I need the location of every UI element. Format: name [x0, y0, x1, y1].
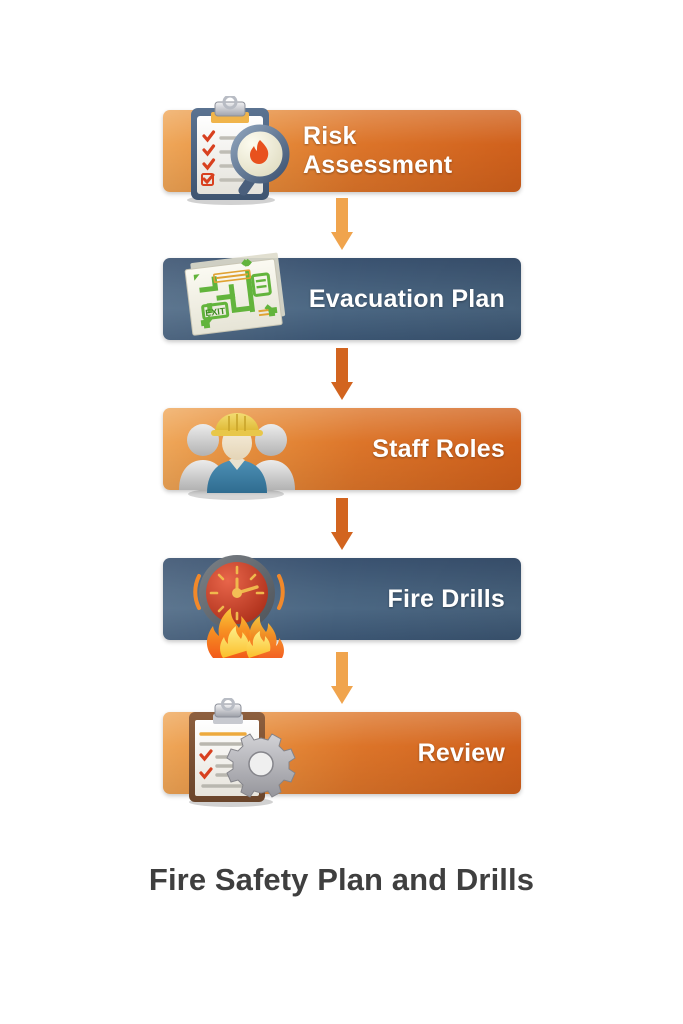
step-label-staff-roles: Staff Roles: [303, 408, 505, 490]
arrow-evacuation-to-staff: [331, 348, 353, 400]
step-label-review: Review: [303, 712, 505, 794]
step-label-fire-drills: Fire Drills: [303, 558, 505, 640]
staff-group-hardhat-icon: [173, 394, 303, 506]
step-label-risk-assessment: Risk Assessment: [303, 110, 505, 192]
process-step-evacuation-plan[interactable]: EXIT Evacuation Plan: [163, 258, 521, 340]
step-label-evacuation-plan: Evacuation Plan: [303, 258, 505, 340]
page-title: Fire Safety Plan and Drills: [0, 862, 683, 898]
process-step-review[interactable]: Review: [163, 712, 521, 794]
infographic-canvas: Risk Assessment: [0, 0, 683, 1024]
alarm-clock-flames-icon: [173, 540, 303, 652]
evacuation-map-icon: EXIT: [173, 244, 303, 356]
arrow-risk-to-evacuation: [331, 198, 353, 250]
clipboard-gear-icon: [173, 698, 303, 810]
process-step-risk-assessment[interactable]: Risk Assessment: [163, 110, 521, 192]
arrow-drills-to-review: [331, 652, 353, 704]
arrow-staff-to-drills: [331, 498, 353, 550]
clipboard-magnifier-flame-icon: [173, 96, 303, 208]
process-step-staff-roles[interactable]: Staff Roles: [163, 408, 521, 490]
process-step-fire-drills[interactable]: Fire Drills: [163, 558, 521, 640]
